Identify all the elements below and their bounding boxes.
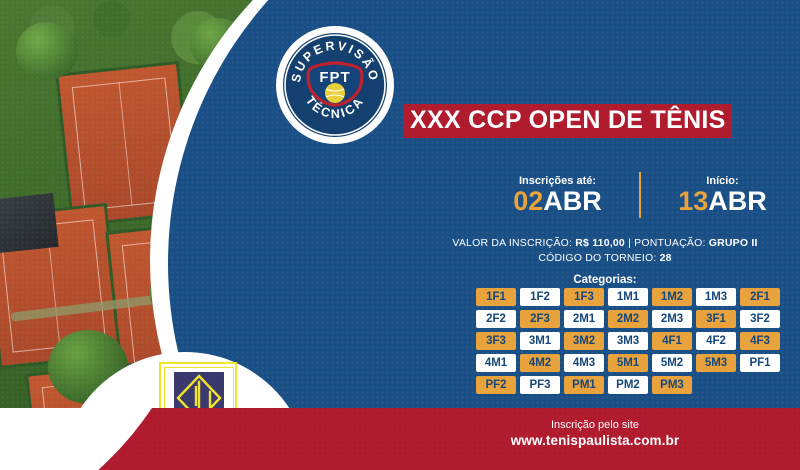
start-date-block: Início: 13ABR (645, 175, 800, 215)
start-day: 13 (678, 186, 708, 216)
poster-content: XXX CCP OPEN DE TÊNIS Inscrições até: 02… (400, 0, 800, 470)
footer-white-curve (0, 408, 210, 470)
category-badge[interactable]: 3F1 (696, 310, 736, 328)
category-badge[interactable]: PM2 (608, 376, 648, 394)
category-badge[interactable]: 4F2 (696, 332, 736, 350)
category-badge[interactable]: 5M3 (696, 354, 736, 372)
registration-day: 02 (513, 186, 543, 216)
tournament-poster: SUPERVISÃO TÉCNICA FPT (0, 0, 800, 470)
footer-line1: Inscrição pelo site (400, 418, 790, 432)
category-badge[interactable]: 4F3 (740, 332, 780, 350)
dates-divider (639, 172, 641, 218)
category-badge[interactable]: 2M1 (564, 310, 604, 328)
category-badge[interactable]: 2F1 (740, 288, 780, 306)
category-badge[interactable]: 3F2 (740, 310, 780, 328)
category-badge[interactable]: PF3 (520, 376, 560, 394)
category-badge[interactable]: PM3 (652, 376, 692, 394)
fee-label: VALOR DA INSCRIÇÃO: (452, 237, 572, 249)
category-badge[interactable]: PF2 (476, 376, 516, 394)
category-badge[interactable]: 1M1 (608, 288, 648, 306)
footer-text: Inscrição pelo site www.tenispaulista.co… (400, 418, 790, 451)
start-date: 13ABR (645, 188, 800, 215)
start-month: ABR (708, 186, 767, 216)
category-badge[interactable]: 2F3 (520, 310, 560, 328)
title-container: XXX CCP OPEN DE TÊNIS (404, 104, 800, 138)
category-badge[interactable]: 4F1 (652, 332, 692, 350)
tournament-meta: VALOR DA INSCRIÇÃO: R$ 110,00 | PONTUAÇÃ… (410, 236, 800, 266)
code-label: CÓDIGO DO TORNEIO: (538, 252, 656, 264)
website-url[interactable]: www.tenispaulista.com.br (400, 432, 790, 450)
category-badge[interactable]: 3M2 (564, 332, 604, 350)
footer-band: Inscrição pelo site www.tenispaulista.co… (0, 408, 800, 470)
fpt-badge-inner: SUPERVISÃO TÉCNICA FPT (283, 33, 387, 137)
category-badge[interactable]: 4M1 (476, 354, 516, 372)
tournament-title: XXX CCP OPEN DE TÊNIS (404, 104, 732, 138)
category-badge[interactable]: 5M1 (608, 354, 648, 372)
categories-heading: Categorias: (410, 274, 800, 286)
category-badge[interactable]: 1M3 (696, 288, 736, 306)
category-badge[interactable]: 1F3 (564, 288, 604, 306)
category-badge[interactable]: PF1 (740, 354, 780, 372)
meta-line-code: CÓDIGO DO TORNEIO: 28 (410, 251, 800, 266)
registration-month: ABR (543, 186, 602, 216)
points-value: GRUPO II (709, 237, 758, 249)
category-badge[interactable]: 1F2 (520, 288, 560, 306)
category-badge[interactable]: 3M1 (520, 332, 560, 350)
meta-separator: | (628, 237, 631, 249)
category-badge[interactable]: 2F2 (476, 310, 516, 328)
category-badge[interactable]: 5M2 (652, 354, 692, 372)
fpt-logo-icon: SUPERVISÃO TÉCNICA FPT (283, 33, 387, 137)
code-value: 28 (660, 252, 672, 264)
dates-row: Inscrições até: 02ABR Início: 13ABR (480, 172, 800, 218)
fee-value: R$ 110,00 (575, 237, 625, 249)
category-badge[interactable]: 2M2 (608, 310, 648, 328)
category-badge[interactable]: 3M3 (608, 332, 648, 350)
registration-date: 02ABR (480, 188, 635, 215)
category-badge[interactable]: 1F1 (476, 288, 516, 306)
category-badge[interactable]: 3F3 (476, 332, 516, 350)
category-badge[interactable]: 1M2 (652, 288, 692, 306)
fpt-supervision-badge: SUPERVISÃO TÉCNICA FPT (276, 26, 394, 144)
tennis-ball-icon (325, 83, 345, 103)
points-label: PONTUAÇÃO: (634, 237, 705, 249)
registration-date-block: Inscrições até: 02ABR (480, 175, 635, 215)
categories-grid: 1F11F21F31M11M21M32F12F22F32M12M22M33F13… (476, 288, 800, 394)
category-badge[interactable]: 4M2 (520, 354, 560, 372)
category-badge[interactable]: PM1 (564, 376, 604, 394)
meta-line-fee: VALOR DA INSCRIÇÃO: R$ 110,00 | PONTUAÇÃ… (410, 236, 800, 251)
category-badge[interactable]: 2M3 (652, 310, 692, 328)
category-badge[interactable]: 4M3 (564, 354, 604, 372)
